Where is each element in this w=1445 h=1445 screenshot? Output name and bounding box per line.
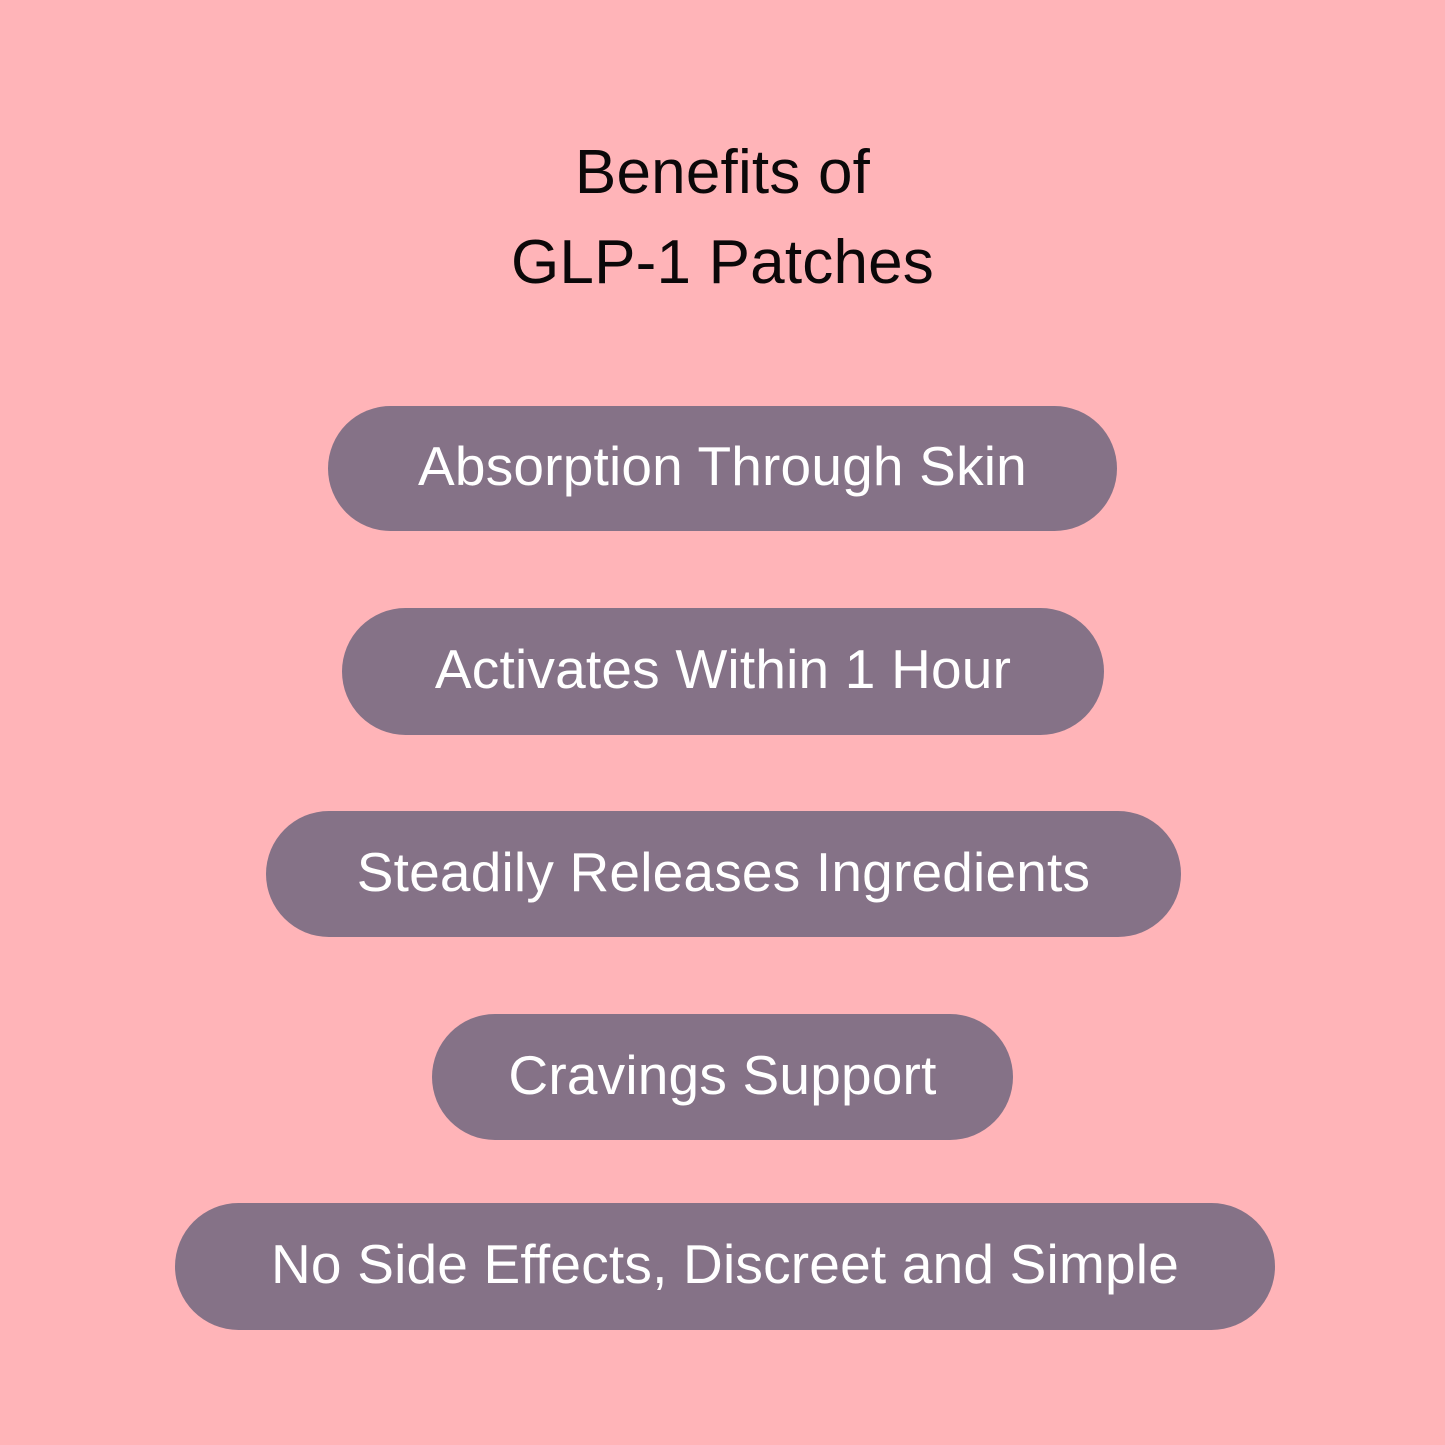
benefits-list: Absorption Through Skin Activates Within… <box>0 0 1445 1445</box>
poster-canvas: Benefits of GLP-1 Patches Absorption Thr… <box>0 0 1445 1445</box>
benefit-pill-cravings-support[interactable]: Cravings Support <box>432 1014 1013 1140</box>
benefit-pill-label: Absorption Through Skin <box>418 439 1027 494</box>
benefit-pill-label: No Side Effects, Discreet and Simple <box>271 1237 1179 1292</box>
benefit-pill-label: Steadily Releases Ingredients <box>357 845 1090 900</box>
benefit-pill-absorption-through-skin[interactable]: Absorption Through Skin <box>328 406 1117 531</box>
benefit-pill-label: Activates Within 1 Hour <box>435 642 1011 697</box>
benefit-pill-label: Cravings Support <box>508 1048 936 1103</box>
benefit-pill-activates-within-1-hour[interactable]: Activates Within 1 Hour <box>342 608 1104 735</box>
benefit-pill-no-side-effects-discreet-and-simple[interactable]: No Side Effects, Discreet and Simple <box>175 1203 1275 1330</box>
benefit-pill-steadily-releases-ingredients[interactable]: Steadily Releases Ingredients <box>266 811 1181 937</box>
